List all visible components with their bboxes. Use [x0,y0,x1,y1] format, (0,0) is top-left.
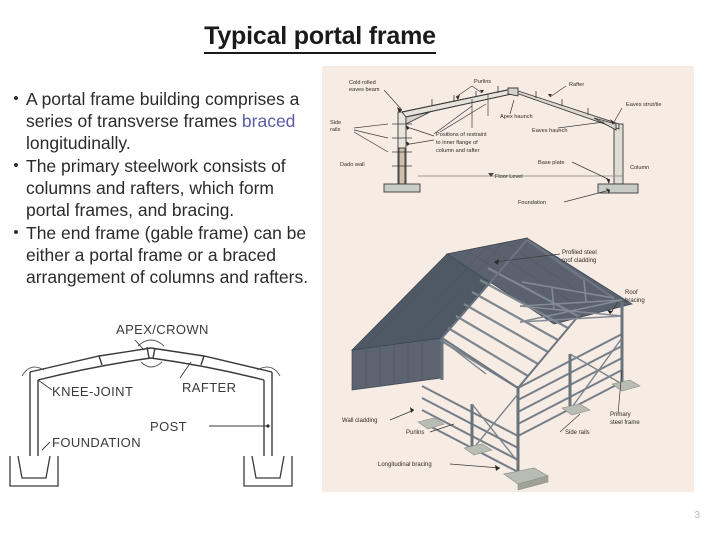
label-restraint-line3: column and rafter [436,148,480,154]
label-apex-haunch: Apex haunch [500,114,533,120]
label-primary-steel-frame-line2: steel frame [610,420,640,426]
label-base-plate: Base plate [538,160,564,166]
foundation-shapes [10,456,292,486]
label-roof-bracing-line2: bracing [625,298,645,304]
bullet-marker-icon: • [6,222,26,243]
label-rafter: Rafter [569,82,584,88]
page-title-text: Typical portal frame [204,22,436,54]
label-foundation: FOUNDATION [52,435,141,450]
label-restraint-line2: to inner flange of [436,140,478,146]
list-item: • The end frame (gable frame) can be eit… [6,222,318,288]
bullet-text: The end frame (gable frame) can be eithe… [26,222,318,288]
bullet-text: A portal frame building comprises a seri… [26,88,318,154]
label-profiled-steel-line1: Profiled steel [562,250,597,256]
page-number: 3 [694,510,700,521]
page-title: Typical portal frame [0,22,640,51]
label-purlins: Purlins [406,430,424,436]
label-post: POST [150,419,187,434]
side-rail-members-front [422,386,518,472]
label-rafter: RAFTER [182,380,236,395]
list-item: • A portal frame building comprises a se… [6,88,318,154]
section-diagram: Cold rolled eaves beam Purlins Rafter Ea… [322,66,694,218]
label-profiled-steel-line2: roof cladding [562,258,596,264]
label-floor-level: Floor Level [495,174,523,180]
label-side-rails-line2: rails [330,127,340,133]
label-eaves-strut-tie: Eaves strut/tie [626,102,661,108]
frame-line-drawing: APEX/CROWN RAFTER KNEE-JOINT POST FOUNDA… [4,314,316,499]
figure-panel: Cold rolled eaves beam Purlins Rafter Ea… [322,66,694,492]
slide-canvas: Typical portal frame • A portal frame bu… [0,0,720,539]
list-item: • The primary steelwork consists of colu… [6,155,318,221]
label-wall-cladding: Wall cladding [342,418,377,424]
bullet-text: The primary steelwork consists of column… [26,155,318,221]
label-side-rails: Side rails [565,430,590,436]
label-column: Column [630,165,649,171]
label-restraint-line1: Positions of restraint [436,132,487,138]
label-roof-bracing-line1: Roof [625,290,638,296]
base-pad-foundations [418,380,640,490]
label-primary-steel-frame-line1: Primary [610,412,631,418]
label-dado-wall: Dado wall [340,162,365,168]
label-knee-joint: KNEE-JOINT [52,384,133,399]
label-cold-rolled-eaves-beam-line2: eaves beam [349,87,380,93]
label-purlins: Purlins [474,79,491,85]
label-longitudinal-bracing: Longitudinal bracing [378,462,432,468]
bullet-list: • A portal frame building comprises a se… [6,88,318,289]
bullet-text-highlight[interactable]: braced [242,111,296,131]
label-eaves-haunch: Eaves haunch [532,128,567,134]
label-cold-rolled-eaves-beam-line1: Cold rolled [349,80,376,86]
bullet-marker-icon: • [6,155,26,176]
bullet-text-post: longitudinally. [26,133,131,153]
label-side-rails-line1: Side [330,120,341,126]
label-foundation: Foundation [518,200,546,206]
bullet-marker-icon: • [6,88,26,109]
isometric-diagram: Profiled steel roof cladding Roof bracin… [322,218,694,492]
label-apex-crown: APEX/CROWN [116,322,209,337]
